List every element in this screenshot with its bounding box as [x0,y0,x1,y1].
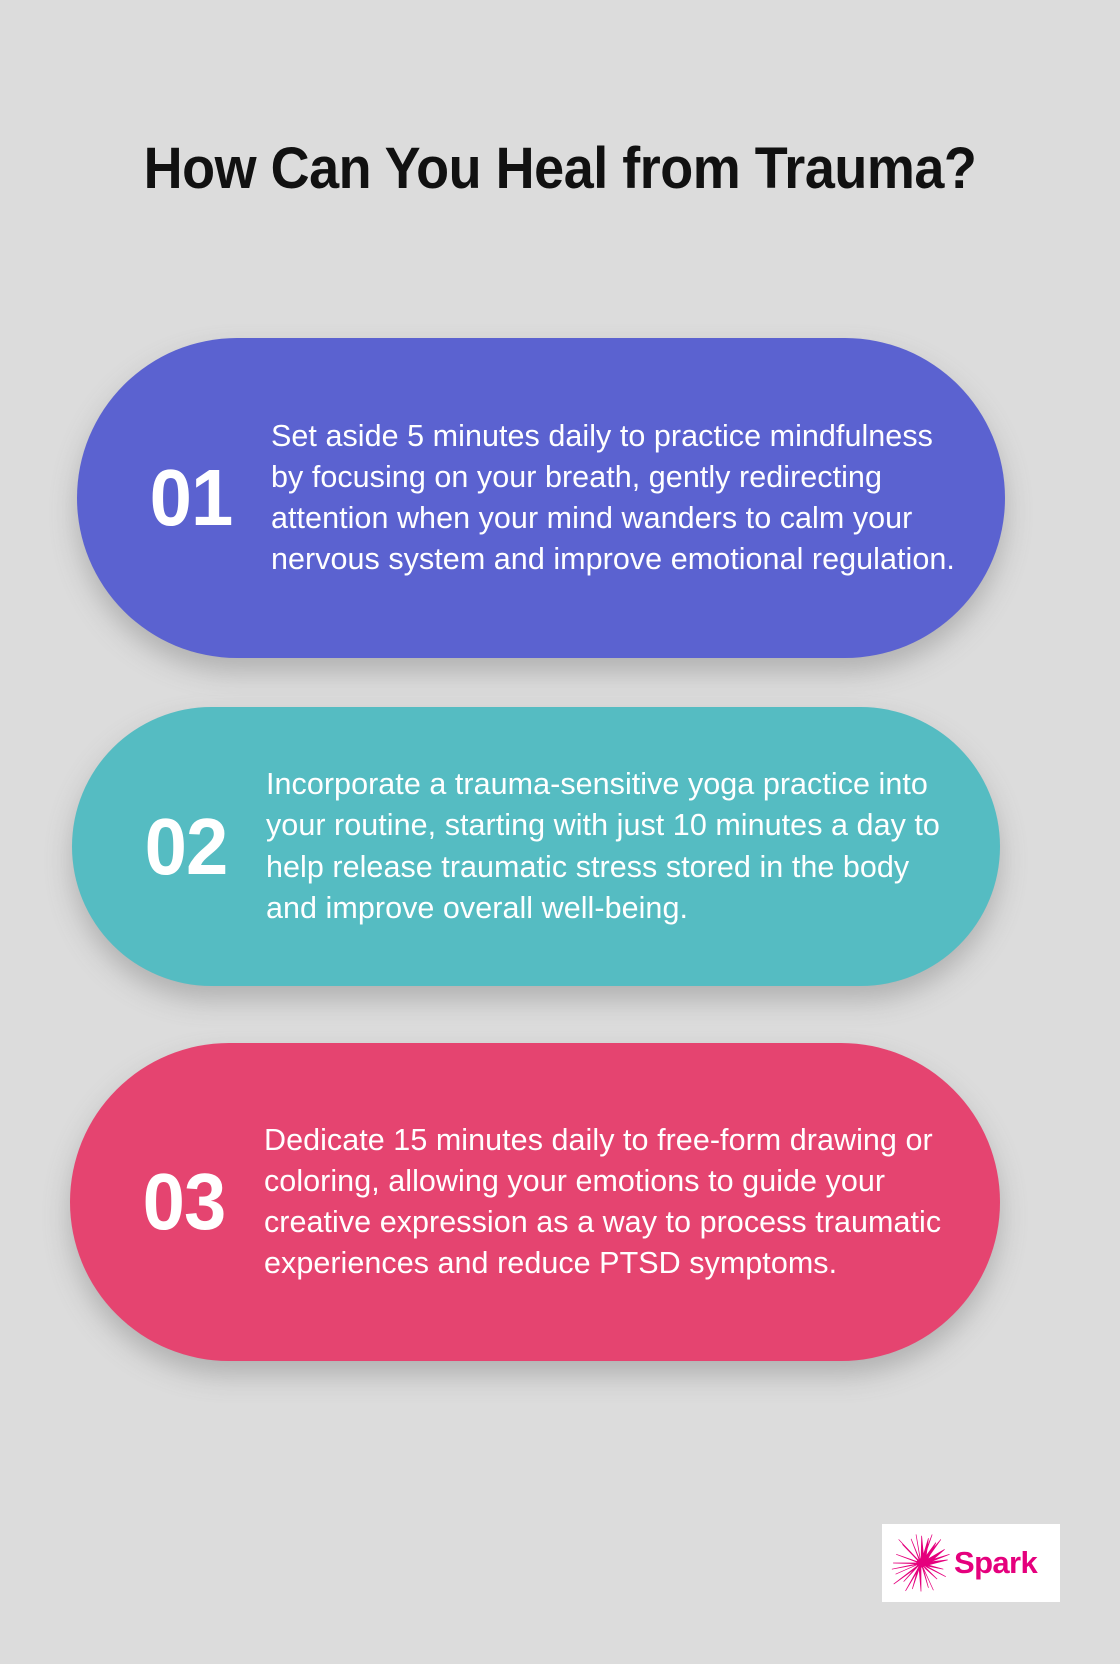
tip-card-2: 02 Incorporate a trauma-sensitive yoga p… [72,707,1000,986]
starburst-icon [890,1532,952,1594]
brand-wordmark: Spark [954,1545,1037,1581]
tip-card-1-number: 01 [128,458,253,538]
tip-card-2-text: Incorporate a trauma-sensitive yoga prac… [266,764,954,928]
tip-card-3-number: 03 [121,1162,246,1242]
tip-card-3-text: Dedicate 15 minutes daily to free-form d… [264,1120,954,1284]
tip-card-2-number: 02 [123,807,248,887]
brand-logo: Spark [882,1524,1060,1602]
tip-card-3: 03 Dedicate 15 minutes daily to free-for… [70,1043,1000,1361]
card-list: 01 Set aside 5 minutes daily to practice… [0,0,1120,1664]
tip-card-1-text: Set aside 5 minutes daily to practice mi… [271,416,959,580]
tip-card-1: 01 Set aside 5 minutes daily to practice… [77,338,1005,658]
